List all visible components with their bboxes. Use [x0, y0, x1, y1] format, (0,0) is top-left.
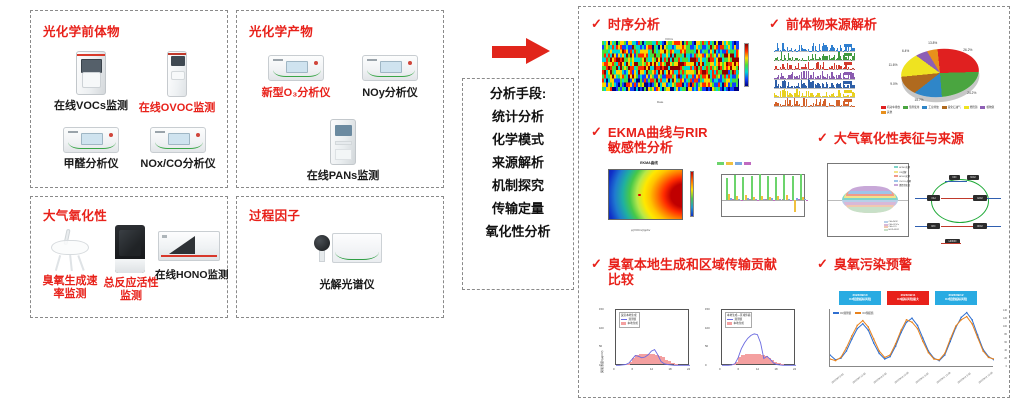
budget-legend-item: O3光解 [894, 170, 911, 174]
radical-flow-arrow [987, 198, 1001, 199]
instrument-label: 在线HONO监测 [155, 269, 225, 281]
ozone-legend: 本地生成—区域传输观测值本地生成 [725, 312, 752, 328]
panel-photochemical-precursors: 光化学前体物 在线VOCs监测 在线OVOC监测 甲醛分析仪 NOx/CO分析仪 [30, 10, 228, 188]
warning-y-tick: 0 [1006, 365, 1007, 368]
chart-regional-transport: 本地生成—区域传输观测值本地生成05010015006121824 [699, 299, 803, 385]
chart-pmf-factor-profiles [761, 39, 877, 111]
budget-legend-item: HO2+RO2 [884, 229, 899, 231]
section-label: 时序分析 [608, 17, 660, 32]
instrument-label: 光解光谱仪 [299, 279, 395, 292]
pmf-legend-swatch [844, 53, 852, 56]
ozone-legend: 臭氧本地生成观测值本地生成 [619, 312, 640, 328]
y-tick: 100 [599, 326, 604, 330]
check-icon: ✓ [591, 257, 602, 271]
method-item-oxidation: 氧化性分析 [463, 225, 573, 238]
diagram-radical-cycle: OHHO2RO2RONONO2HONO [911, 157, 1009, 249]
section-label: 臭氧本地生成和区域传输贡献比较 [608, 257, 780, 288]
ekma-title: EKMA曲线 [595, 161, 703, 166]
panel-analysis-results: ✓ 时序分析 Date VOCs ✓ 前体物来源解析 机动车排放溶剂使用工业排放… [578, 6, 1010, 398]
pmf-legend-swatch [844, 90, 852, 93]
warning-banner: 2023/09/11O3超标风险最大 [887, 291, 929, 305]
pmf-legend-swatch [844, 44, 852, 47]
chart-oxidation-budget: HONO光解O3光解HCHO光解OVOCs光解烯烃臭氧化OH+NO2OH+VOC… [815, 157, 915, 249]
local-ylabel: 臭氧浓度/(μg/m³) [600, 350, 604, 373]
warning-series-lines [830, 309, 994, 367]
budget-legend-loss: OH+NO2OH+VOCsOH+COHO2+RO2 [884, 221, 899, 231]
x-tick: 24 [687, 367, 690, 371]
device-benchtop-icon [63, 127, 119, 153]
instrument-new-o3-analyzer: 新型O₃分析仪 [251, 55, 341, 100]
method-item-statistical: 统计分析 [463, 110, 573, 123]
x-tick: 18 [775, 367, 778, 371]
warning-y-tick: 120 [1003, 317, 1007, 320]
budget-legend-item: OVOCs光解 [894, 179, 911, 183]
device-benchtop-icon [150, 127, 206, 153]
budget-legend-production: HONO光解O3光解HCHO光解OVOCs光解烯烃臭氧化 [894, 165, 911, 187]
x-tick: 0 [719, 367, 721, 371]
radical-flow-arrow [987, 226, 1001, 227]
ekma-marker [638, 194, 641, 197]
pmf-factor-row [774, 98, 855, 107]
ozone-legend-item: 本地生成 [621, 322, 638, 326]
pie-legend-item: 其他 [881, 110, 892, 114]
section-title-precursor-source: ✓ 前体物来源解析 [769, 17, 877, 32]
warning-banner-text: O3超标风险最大 [897, 298, 919, 302]
pie-slice-label: 15.7% [915, 98, 924, 102]
pie-slice-label: 11.6% [889, 63, 898, 67]
instrument-label: NOy分析仪 [345, 87, 435, 100]
check-icon: ✓ [591, 125, 602, 139]
heatmap-title: VOCs [665, 37, 673, 41]
check-icon: ✓ [769, 17, 780, 31]
device-wide-rack-icon [158, 231, 220, 261]
instrument-online-vocs: 在线VOCs监测 [51, 51, 131, 113]
section-title-local-regional: ✓ 臭氧本地生成和区域传输贡献比较 [591, 257, 781, 288]
device-slim-tower-icon [167, 51, 187, 97]
device-black-cabinet-icon [115, 225, 145, 273]
heatmap-plot [602, 41, 739, 91]
radical-node: RO2 [973, 223, 987, 229]
warning-legend-item: O3预报值 [855, 311, 873, 315]
instrument-label: 臭氧生成速率监测 [39, 275, 101, 300]
warning-banner: 2023/09/12O3轻度超标风险 [935, 291, 977, 305]
device-tower-icon [76, 51, 106, 95]
pmf-legend-swatch [844, 62, 852, 65]
budget-loss-band [848, 207, 892, 213]
section-label: 臭氧污染预警 [834, 257, 912, 272]
instrument-label: NOx/CO分析仪 [135, 158, 221, 171]
x-tick: 6 [632, 367, 634, 371]
budget-production-band [850, 186, 890, 192]
chart-local-generation: 臭氧浓度/(μg/m³) 臭氧本地生成观测值本地生成05010015006121… [593, 299, 697, 385]
section-title-timeseries: ✓ 时序分析 [591, 17, 660, 32]
budget-legend-item: 烯烃臭氧化 [894, 183, 911, 187]
radical-flow-arrow [915, 226, 927, 227]
warning-y-tick: 100 [1003, 325, 1007, 328]
warning-y-tick: 60 [1004, 341, 1007, 344]
radical-flow-arrow [915, 198, 927, 199]
pmf-factor-row [774, 89, 855, 98]
pmf-legend-swatch [844, 99, 852, 102]
chart-voc-heatmap: Date VOCs [587, 37, 755, 105]
warning-plot [829, 309, 993, 367]
instrument-noy-analyzer: NOy分析仪 [345, 55, 435, 100]
radical-cycle-ring [931, 179, 989, 223]
device-benchtop-icon [268, 55, 324, 81]
warning-y-tick: 40 [1004, 349, 1007, 352]
rir-bar [794, 200, 796, 212]
pmf-factor-row [774, 52, 855, 61]
warning-x-tick: 2023/9/10 0:00 [873, 372, 887, 384]
rir-bar [806, 200, 808, 201]
pmf-legend-swatch [844, 72, 852, 75]
instrument-photolysis-spectrometer: 光解光谱仪 [299, 231, 395, 292]
warning-banner: 2023/09/10O3轻度超标风险 [839, 291, 881, 305]
x-tick: 0 [613, 367, 615, 371]
rir-legend-swatch [717, 162, 724, 165]
warning-x-tick: 2023/9/12 0:00 [957, 372, 971, 384]
method-item-chemical-model: 化学模式 [463, 133, 573, 146]
warning-y-tick: 20 [1004, 357, 1007, 360]
instrument-total-reactivity: 总反应活性监测 [103, 225, 159, 302]
panel-title-precursors: 光化学前体物 [43, 21, 120, 40]
panel-process-factor: 过程因子 光解光谱仪 [236, 196, 444, 318]
panel-analysis-methods: 分析手段: 统计分析 化学模式 来源解析 机制探究 传输定量 氧化性分析 [462, 78, 574, 290]
pmf-legend-swatch [844, 81, 852, 84]
rir-legend [717, 162, 807, 165]
radical-flow-arrow [941, 226, 973, 227]
y-tick: 150 [599, 307, 604, 311]
y-tick: 0 [599, 363, 601, 367]
pie-slice-label: 24.2% [967, 91, 976, 95]
warning-x-tick: 2023/9/10 12:00 [894, 371, 909, 384]
chart-source-pie: 机动车排放溶剂使用工业排放液化石油气燃烧源植物源其他 26.2%24.2%15.… [879, 37, 1007, 115]
radical-node: NO [949, 175, 960, 180]
heatmap-xlabel: Date [657, 100, 663, 104]
heatmap-colorbar [744, 43, 749, 87]
instrument-label: 在线VOCs监测 [51, 100, 131, 113]
ekma-plot [608, 169, 683, 220]
panel-title-products: 光化学产物 [249, 21, 313, 40]
pie-legend-item: 机动车排放 [881, 105, 900, 109]
pie-legend: 机动车排放溶剂使用工业排放液化石油气燃烧源植物源其他 [881, 105, 1001, 114]
rir-legend-swatch [735, 162, 742, 165]
section-label: 大气氧化性表征与来源 [834, 131, 964, 146]
rir-plot [721, 174, 805, 217]
radical-flow-arrow [941, 243, 961, 244]
instrument-nox-co-analyzer: NOx/CO分析仪 [135, 127, 221, 171]
pie-slice-label: 9.0% [890, 82, 897, 86]
panel-title-process: 过程因子 [249, 205, 300, 224]
section-label: EKMA曲线与RIR敏感性分析 [608, 125, 720, 156]
section-label: 前体物来源解析 [786, 17, 877, 32]
instrument-online-pans: 在线PANs监测 [295, 119, 391, 183]
section-title-oxidation-source: ✓ 大气氧化性表征与来源 [817, 131, 964, 146]
y-tick: 50 [599, 344, 602, 348]
warning-x-tick: 2023/9/9 0:00 [831, 373, 844, 384]
radical-node: OH [927, 195, 940, 201]
warning-x-tick: 2023/9/12 12:00 [978, 371, 993, 384]
instrument-formaldehyde-analyzer: 甲醛分析仪 [49, 127, 133, 171]
pie-slice-label: 26.2% [963, 48, 972, 52]
rir-legend-swatch [744, 162, 751, 165]
warning-x-tick: 2023/9/9 12:00 [852, 372, 866, 384]
method-item-mechanism: 机制探究 [463, 179, 573, 192]
instrument-label: 甲醛分析仪 [49, 158, 133, 171]
radical-node: NO2 [967, 175, 979, 180]
budget-legend-item: HCHO光解 [894, 174, 911, 178]
radical-flow-arrow [941, 198, 973, 199]
rir-legend-swatch [726, 162, 733, 165]
method-item-transport: 传输定量 [463, 202, 573, 215]
radical-node: RO [927, 223, 940, 229]
rir-bar [792, 176, 794, 201]
x-tick: 12 [756, 367, 759, 371]
pie-legend-item: 液化石油气 [942, 105, 961, 109]
x-tick: 18 [669, 367, 672, 371]
y-tick: 150 [705, 307, 710, 311]
x-tick: 12 [650, 367, 653, 371]
budget-legend-item: HONO光解 [894, 165, 911, 169]
device-chamber-icon [47, 227, 93, 271]
method-item-source-apportionment: 来源解析 [463, 156, 573, 169]
panel-photochemical-products: 光化学产物 新型O₃分析仪 NOy分析仪 在线PANs监测 [236, 10, 444, 188]
pie-legend-item: 工业排放 [922, 105, 938, 109]
y-tick: 0 [705, 363, 707, 367]
pmf-factor-row [774, 71, 855, 80]
warning-x-tick: 2023/9/11 12:00 [936, 371, 951, 384]
ekma-xlabel: φ(VOCs)/ppbv [631, 228, 650, 232]
instrument-online-ovoc: 在线OVOC监测 [135, 51, 219, 115]
warning-y-tick: 140 [1003, 309, 1007, 312]
chart-rir-bars [707, 159, 811, 233]
ekma-colorbar [690, 171, 694, 217]
instrument-label: 总反应活性监测 [103, 277, 159, 302]
pie-legend-item: 溶剂使用 [903, 105, 919, 109]
warning-banner-text: O3轻度超标风险 [849, 298, 871, 302]
pie-legend-item: 燃烧源 [964, 105, 978, 109]
warning-legend-item: O3观测值 [833, 311, 851, 315]
instrument-ozone-production-rate: 臭氧生成速率监测 [39, 227, 101, 300]
instrument-online-hono: 在线HONO监测 [155, 231, 225, 281]
x-tick: 6 [738, 367, 740, 371]
device-benchtop-icon [362, 55, 418, 81]
check-icon: ✓ [591, 17, 602, 31]
check-icon: ✓ [817, 257, 828, 271]
device-cabinet-icon [330, 119, 356, 165]
pie-legend-item: 植物源 [980, 105, 994, 109]
warning-y-tick: 80 [1004, 333, 1007, 336]
pmf-factor-row [774, 43, 855, 52]
pmf-factor-row [774, 61, 855, 70]
pie-slice-label: 13.8% [928, 41, 937, 45]
warning-banner-text: O3轻度超标风险 [945, 298, 967, 302]
device-spectrometer-icon [312, 231, 382, 265]
radical-node: HO2 [973, 195, 987, 201]
right-arrow-icon [492, 38, 554, 64]
y-tick: 100 [705, 326, 710, 330]
instrument-label: 新型O₃分析仪 [251, 87, 341, 100]
check-icon: ✓ [817, 131, 828, 145]
pie-slice-label: 6.4% [902, 49, 909, 53]
ozone-legend-item: 本地生成 [727, 322, 750, 326]
warning-legend: O3观测值O3预报值 [833, 311, 874, 315]
diagram-canvas: 光化学前体物 在线VOCs监测 在线OVOC监测 甲醛分析仪 NOx/CO分析仪… [0, 0, 1016, 403]
warning-x-tick: 2023/9/11 0:00 [915, 372, 929, 384]
radical-flow-arrow [945, 181, 967, 182]
y-tick: 50 [705, 344, 708, 348]
section-title-warning: ✓ 臭氧污染预警 [817, 257, 912, 272]
x-tick: 24 [793, 367, 796, 371]
instrument-label: 在线PANs监测 [295, 170, 391, 183]
chart-pollution-warning: 2023/09/10O3轻度超标风险2023/09/11O3超标风险最大2023… [813, 289, 1009, 389]
methods-heading: 分析手段: [463, 87, 573, 100]
section-title-ekma-rir: ✓ EKMA曲线与RIR敏感性分析 [591, 125, 721, 156]
chart-ekma-curve: EKMA曲线 φ(VOCs)/ppbv [595, 159, 703, 233]
pmf-factor-row [774, 80, 855, 89]
instrument-label: 在线OVOC监测 [135, 102, 219, 115]
panel-atmospheric-oxidation: 大气氧化性 臭氧生成速率监测 总反应活性监测 在线HONO监测 [30, 196, 228, 318]
panel-title-oxidation: 大气氧化性 [43, 205, 107, 224]
